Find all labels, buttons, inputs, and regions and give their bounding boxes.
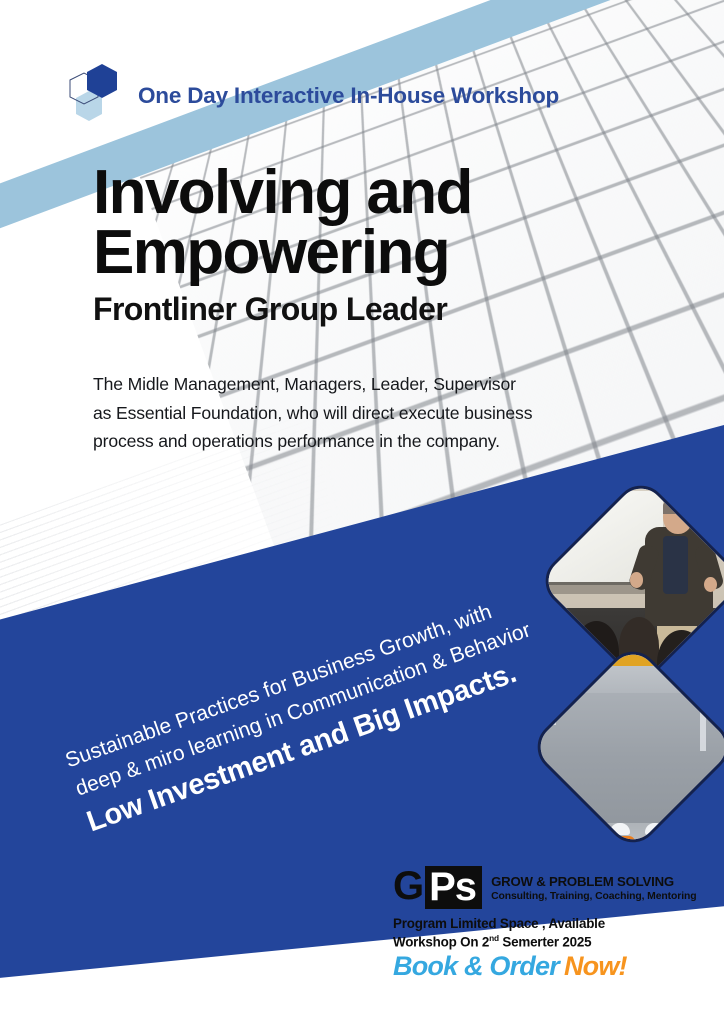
speaker-shirt	[663, 536, 688, 594]
gps-logo-icon: G Ps	[393, 866, 482, 909]
info-line-semester-pre: Workshop On 2	[393, 934, 489, 949]
info-line-semester: Workshop On 2nd Semerter 2025	[393, 933, 697, 949]
speaker-left-hand	[630, 572, 643, 588]
gps-brand-row: G Ps GROW & PROBLEM SOLVING Consulting, …	[393, 866, 697, 909]
gps-brand-text: GROW & PROBLEM SOLVING Consulting, Train…	[491, 874, 696, 902]
page-title-line-2: Empowering	[93, 223, 472, 283]
footer-info-lines: Program Limited Space , Available Worksh…	[393, 916, 697, 981]
title-block: Involving and Empowering Frontliner Grou…	[93, 163, 472, 328]
poster-header: One Day Interactive In-House Workshop	[62, 60, 559, 132]
cta-book-and-order[interactable]: Book & OrderNow!	[393, 952, 697, 980]
info-line-semester-post: Semerter 2025	[499, 934, 592, 949]
page-subtitle: Frontliner Group Leader	[93, 291, 472, 328]
brand-name: GROW & PROBLEM SOLVING	[491, 874, 696, 889]
brand-services: Consulting, Training, Coaching, Mentorin…	[491, 891, 696, 902]
poster-footer: G Ps GROW & PROBLEM SOLVING Consulting, …	[393, 866, 697, 981]
info-line-available: Program Limited Space , Available	[393, 916, 697, 931]
hard-hat	[610, 823, 630, 835]
gps-logo-letters-ps: Ps	[425, 866, 482, 909]
hexagon-cluster-logo-icon	[62, 60, 124, 132]
cta-book-text: Book & Order	[393, 951, 559, 981]
info-line-semester-ordinal: nd	[489, 933, 499, 943]
page-title-line-1: Involving and	[93, 163, 472, 223]
header-title: One Day Interactive In-House Workshop	[138, 83, 559, 109]
gps-logo-letter-g: G	[393, 866, 425, 909]
cta-now-text: Now!	[564, 951, 627, 981]
body-paragraph: The Midle Management, Managers, Leader, …	[93, 370, 693, 456]
poster-canvas: One Day Interactive In-House Workshop In…	[0, 0, 724, 1024]
